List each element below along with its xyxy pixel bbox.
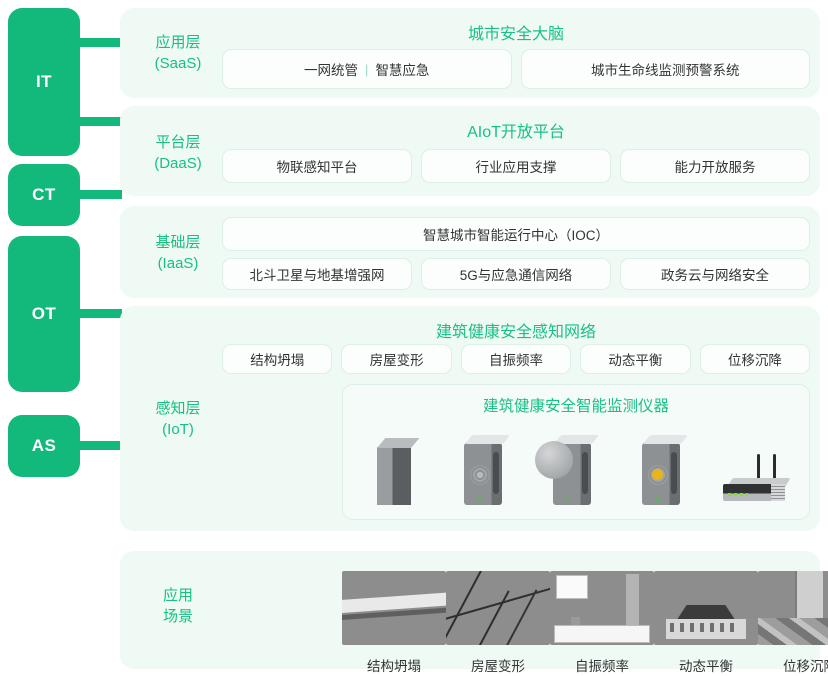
stack-tag-it[interactable]: IT <box>8 8 80 156</box>
house-at-dusk-photo <box>654 571 758 645</box>
perception-layer-label-line1: 感知层 <box>135 398 221 419</box>
disc-sensor-device-icon <box>533 427 619 511</box>
stack-tag-as[interactable]: AS <box>8 415 80 477</box>
chip-one-network-emergency[interactable]: 一网统管 | 智慧应急 <box>222 49 512 89</box>
scenario-caption: 自振频率 <box>550 655 654 675</box>
chip-structural-collapse[interactable]: 结构坍塌 <box>222 344 332 374</box>
perception-layer-label-line2: (IoT) <box>135 419 221 440</box>
scenario-caption: 结构坍塌 <box>342 655 446 675</box>
connector-it-application <box>80 38 122 47</box>
perception-layer-label: 感知层 (IoT) <box>135 398 221 440</box>
architecture-diagram: IT CT OT AS 应用层 (SaaS) 城市安全大脑 一网统管 | 智慧应… <box>0 0 828 676</box>
connector-it-platform <box>80 117 122 126</box>
chip-capability-open-service[interactable]: 能力开放服务 <box>620 149 810 183</box>
stack-tag-it-label: IT <box>36 72 52 92</box>
connector-ct-infrastructure <box>80 190 122 199</box>
scenarios-label-line2: 场景 <box>135 606 221 627</box>
chip-separator: | <box>365 62 368 77</box>
connector-ot-perception <box>80 309 122 318</box>
chip-smart-emergency-label: 智慧应急 <box>375 59 429 79</box>
infrastructure-layer-chip-row: 北斗卫星与地基增强网 5G与应急通信网络 政务云与网络安全 <box>222 258 810 290</box>
chip-building-deformation[interactable]: 房屋变形 <box>341 344 451 374</box>
dark-enclosure-device-icon <box>355 427 441 511</box>
scenario-item[interactable]: 自振频率 <box>550 571 654 675</box>
device-row <box>353 423 799 511</box>
application-layer-chip-row: 一网统管 | 智慧应急 城市生命线监测预警系统 <box>222 49 810 89</box>
chip-displacement-settlement[interactable]: 位移沉降 <box>700 344 810 374</box>
infrastructure-ioc-row: 智慧城市智能运行中心（IOC） <box>222 217 810 251</box>
infrastructure-layer-label: 基础层 (IaaS) <box>135 232 221 274</box>
perception-layer-chip-row: 结构坍塌 房屋变形 自振频率 动态平衡 位移沉降 <box>222 344 810 374</box>
platform-layer-label-line2: (DaaS) <box>135 153 221 174</box>
gateway-router-device-icon <box>711 427 797 511</box>
stack-tag-as-label: AS <box>32 436 57 456</box>
scenario-caption: 房屋变形 <box>446 655 550 675</box>
connector-as-scenarios <box>80 441 122 450</box>
stack-tag-ct-label: CT <box>32 185 56 205</box>
panel-application-layer: 应用层 (SaaS) 城市安全大脑 一网统管 | 智慧应急 城市生命线监测预警系… <box>120 8 820 98</box>
settled-column-photo <box>758 571 828 645</box>
chip-industry-app-support[interactable]: 行业应用支撑 <box>421 149 611 183</box>
chip-dynamic-balance[interactable]: 动态平衡 <box>580 344 690 374</box>
ring-sensor-device-icon <box>444 427 530 511</box>
seismogram-diagram <box>550 571 654 645</box>
scenario-item[interactable]: 位移沉降 <box>758 571 828 675</box>
infrastructure-layer-label-line2: (IaaS) <box>135 253 221 274</box>
platform-layer-label: 平台层 (DaaS) <box>135 132 221 174</box>
application-layer-label-line1: 应用层 <box>135 32 221 53</box>
application-layer-label: 应用层 (SaaS) <box>135 32 221 74</box>
scenario-item[interactable]: 动态平衡 <box>654 571 758 675</box>
chip-smart-city-ioc[interactable]: 智慧城市智能运行中心（IOC） <box>222 217 810 251</box>
platform-layer-chip-row: 物联感知平台 行业应用支撑 能力开放服务 <box>222 149 810 183</box>
infrastructure-layer-label-line1: 基础层 <box>135 232 221 253</box>
scenario-row: 结构坍塌 房屋变形 自振频率 动态平衡 <box>342 571 810 675</box>
collapsed-bridge-photo <box>342 571 446 645</box>
scenarios-label: 应用 场景 <box>135 585 221 627</box>
chip-iot-sensing-platform[interactable]: 物联感知平台 <box>222 149 412 183</box>
panel-infrastructure-layer: 基础层 (IaaS) 智慧城市智能运行中心（IOC） 北斗卫星与地基增强网 5G… <box>120 206 820 298</box>
perception-layer-title: 建筑健康安全感知网络 <box>222 318 810 342</box>
cracked-wall-photo <box>446 571 550 645</box>
monitoring-device-title: 建筑健康安全智能监测仪器 <box>343 394 809 416</box>
scenario-item[interactable]: 房屋变形 <box>446 571 550 675</box>
scenario-caption: 动态平衡 <box>654 655 758 675</box>
stack-tag-ot-label: OT <box>32 304 57 324</box>
chip-one-network-label: 一网统管 <box>304 59 358 79</box>
platform-layer-label-line1: 平台层 <box>135 132 221 153</box>
scenarios-label-line1: 应用 <box>135 585 221 606</box>
application-layer-title: 城市安全大脑 <box>222 20 810 44</box>
scenario-item[interactable]: 结构坍塌 <box>342 571 446 675</box>
stack-tag-ct[interactable]: CT <box>8 164 80 226</box>
chip-city-lifeline-system[interactable]: 城市生命线监测预警系统 <box>521 49 811 89</box>
platform-layer-title: AIoT开放平台 <box>222 118 810 142</box>
panel-application-scenarios: 应用 场景 结构坍塌 房屋变形 自振频率 <box>120 551 820 669</box>
chip-beidou-ground-network[interactable]: 北斗卫星与地基增强网 <box>222 258 412 290</box>
chip-natural-frequency[interactable]: 自振频率 <box>461 344 571 374</box>
panel-perception-layer: 感知层 (IoT) 建筑健康安全感知网络 结构坍塌 房屋变形 自振频率 动态平衡… <box>120 306 820 531</box>
panel-platform-layer: 平台层 (DaaS) AIoT开放平台 物联感知平台 行业应用支撑 能力开放服务 <box>120 106 820 196</box>
application-layer-label-line2: (SaaS) <box>135 53 221 74</box>
stack-tag-ot[interactable]: OT <box>8 236 80 392</box>
amber-led-sensor-device-icon <box>622 427 708 511</box>
scenario-caption: 位移沉降 <box>758 655 828 675</box>
chip-5g-emergency-network[interactable]: 5G与应急通信网络 <box>421 258 611 290</box>
chip-gov-cloud-security[interactable]: 政务云与网络安全 <box>620 258 810 290</box>
monitoring-device-container: 建筑健康安全智能监测仪器 <box>342 384 810 520</box>
